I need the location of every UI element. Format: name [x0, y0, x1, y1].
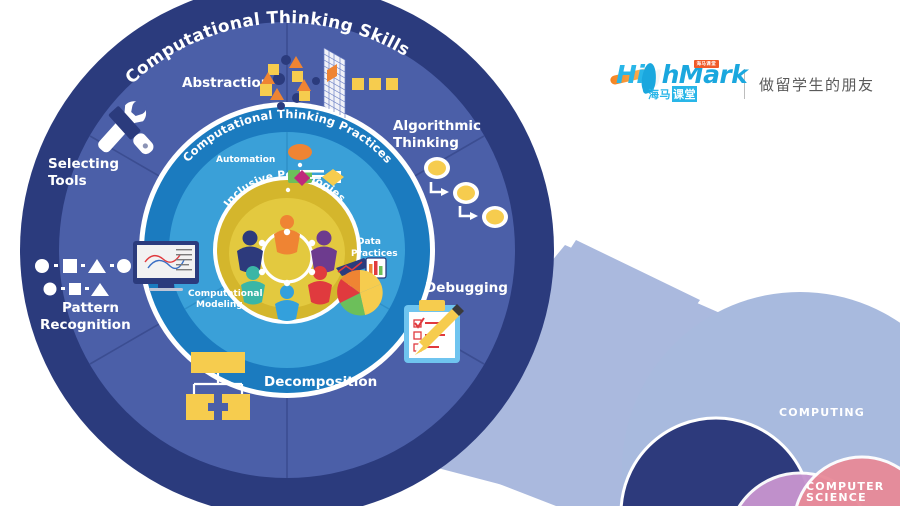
infographic-canvas: COMPUTING COMPUTER SCIENCE: [0, 0, 900, 506]
skill-debugging-label: Debugging: [425, 280, 508, 296]
logo-mark: HighMark 海马课堂 海马 课堂: [612, 60, 734, 108]
grid-plane: [324, 48, 345, 118]
practice-data-label-line1: Data: [357, 237, 381, 247]
practice-modeling-label-line2: Modeling: [196, 300, 243, 310]
computer-science-label-line2: SCIENCE: [806, 491, 867, 504]
clipboard-pencil-icon: [404, 300, 464, 363]
skill-pattern-label-line1: Pattern: [62, 300, 119, 316]
brand-logo[interactable]: HighMark 海马课堂 海马 课堂 做留学生的朋友: [612, 58, 882, 110]
computing-label: COMPUTING: [779, 406, 865, 419]
logo-word-hi: Hi: [616, 60, 644, 89]
logo-cn-plain: 海马: [648, 86, 671, 102]
logo-wordmark: HighMark: [616, 62, 747, 87]
skill-tools-label-line1: Selecting: [48, 156, 119, 172]
logo-cn-boxed: 课堂: [672, 86, 697, 102]
logo-chinese-name: 海马 课堂: [648, 86, 697, 102]
skill-decomposition-label: Decomposition: [264, 374, 377, 390]
monitor-model-icon: [133, 241, 199, 291]
skills-wheel: Computational Thinking Skills Computatio…: [20, 0, 554, 506]
practice-automation-label: Automation: [216, 155, 275, 165]
logo-tagline: 做留学生的朋友: [759, 74, 875, 95]
logo-badge: 海马课堂: [694, 60, 719, 68]
skill-algorithmic-label-line1: Algorithmic: [393, 118, 481, 134]
skill-pattern-label-line2: Recognition: [40, 317, 131, 333]
practice-modeling-label-line1: Computational: [188, 289, 263, 299]
skill-algorithmic-label-line2: Thinking: [393, 135, 459, 151]
skill-tools-label-line2: Tools: [48, 173, 87, 189]
skill-abstraction-label: Abstraction: [182, 75, 270, 91]
